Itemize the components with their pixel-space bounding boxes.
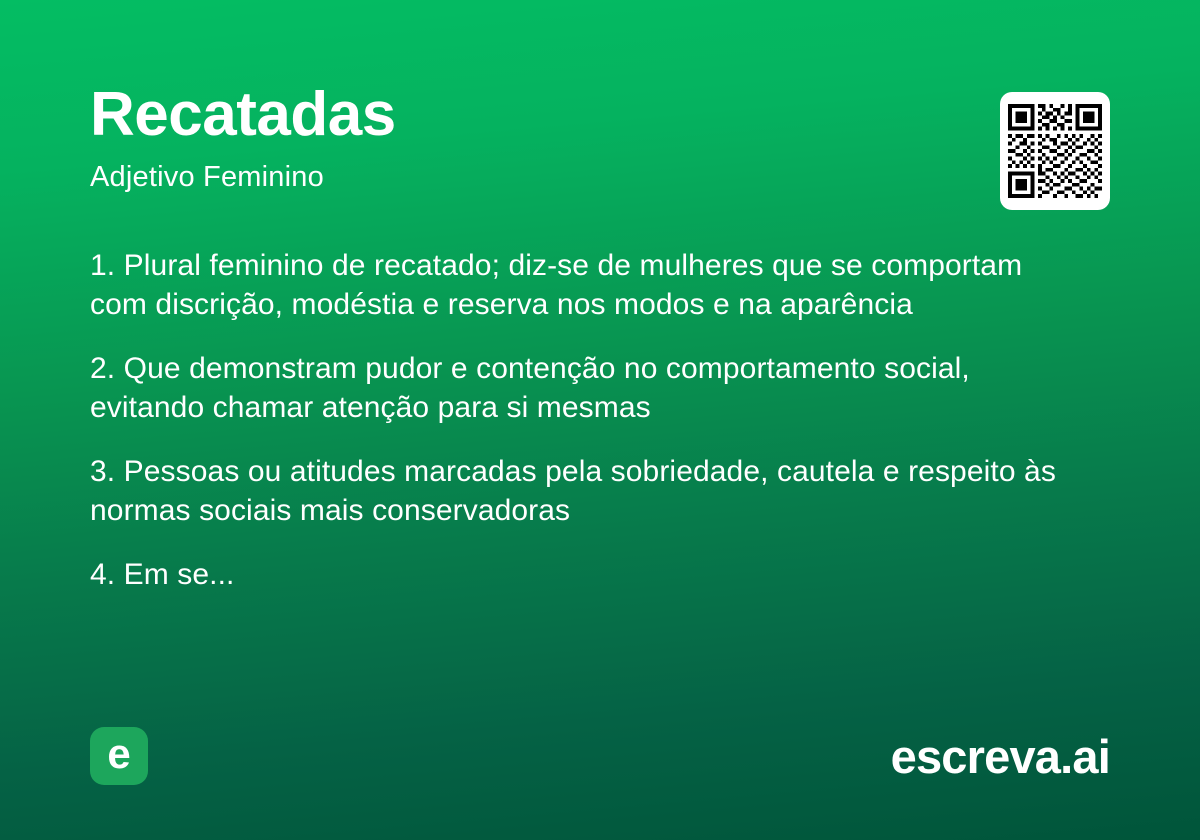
definition-list: 1. Plural feminino de recatado; diz-se d… bbox=[90, 246, 1080, 594]
qr-code-icon[interactable] bbox=[1000, 92, 1110, 210]
card-header: Recatadas Adjetivo Feminino bbox=[90, 84, 1110, 194]
definition-item: 1. Plural feminino de recatado; diz-se d… bbox=[90, 246, 1080, 324]
brand-wordmark: escreva.ai bbox=[891, 733, 1110, 780]
definition-item: 4. Em se... bbox=[90, 555, 1080, 594]
dictionary-card: Recatadas Adjetivo Feminino bbox=[0, 0, 1200, 840]
logo-letter: e bbox=[107, 733, 130, 775]
page-title: Recatadas bbox=[90, 84, 1110, 146]
card-footer: e escreva.ai bbox=[90, 724, 1110, 788]
definition-item: 2. Que demonstram pudor e contenção no c… bbox=[90, 349, 1080, 427]
definition-item: 3. Pessoas ou atitudes marcadas pela sob… bbox=[90, 452, 1080, 530]
word-class-subtitle: Adjetivo Feminino bbox=[90, 162, 1110, 194]
escreva-logo-icon[interactable]: e bbox=[90, 727, 148, 785]
